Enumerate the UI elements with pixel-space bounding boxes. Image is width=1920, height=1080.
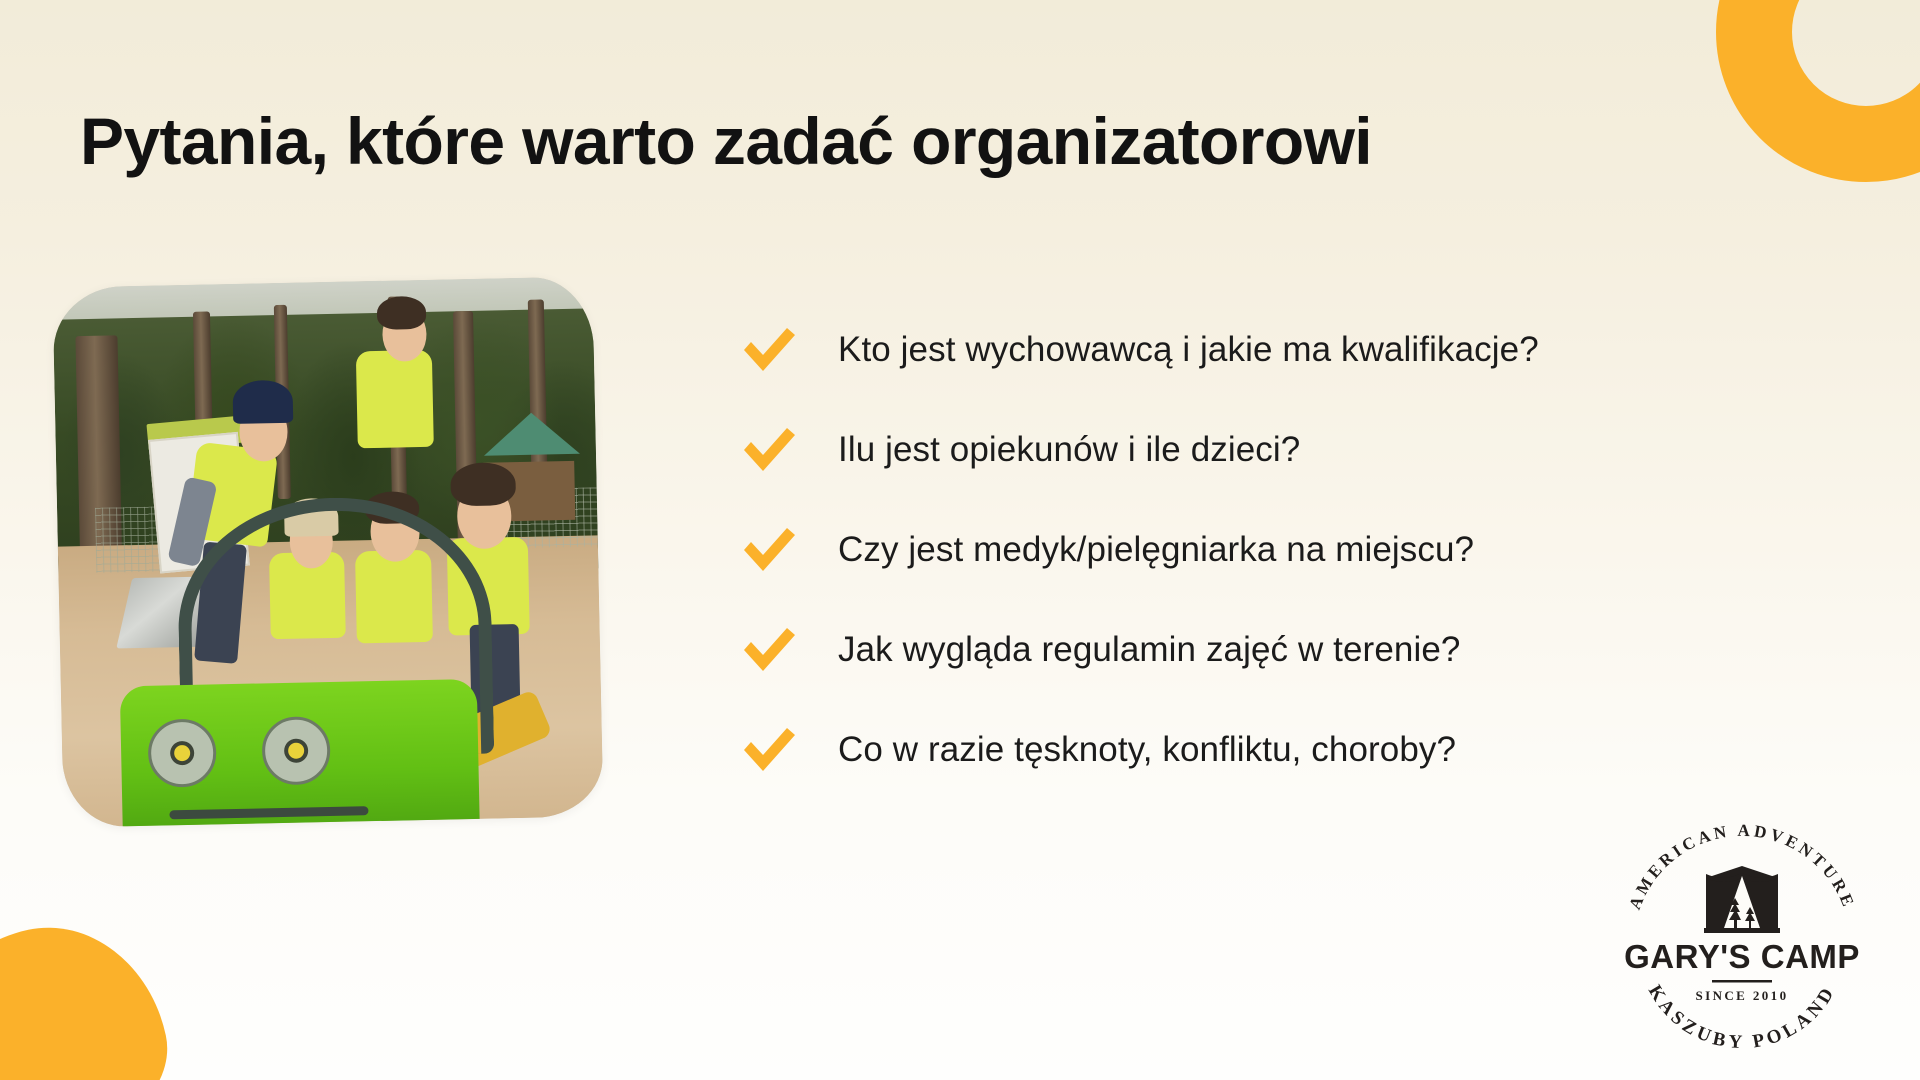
photo-child bbox=[356, 350, 434, 449]
logo-svg: AMERICAN ADVENTURE GARY'S CAMP bbox=[1608, 816, 1876, 1056]
list-item-label: Jak wygląda regulamin zajęć w terenie? bbox=[838, 630, 1460, 670]
check-icon bbox=[740, 521, 798, 579]
logo-since-text: SINCE 2010 bbox=[1696, 988, 1789, 1003]
list-item-label: Czy jest medyk/pielęgniarka na miejscu? bbox=[838, 530, 1474, 570]
photo-cabin-roof bbox=[483, 412, 580, 456]
bottom-left-blob-decoration bbox=[0, 906, 184, 1080]
photo-child-cap bbox=[233, 380, 293, 424]
logo-brand-name: GARY'S CAMP bbox=[1624, 938, 1860, 975]
list-item: Ilu jest opiekunów i ile dzieci? bbox=[740, 400, 1800, 500]
camp-photo bbox=[52, 276, 603, 827]
slide-root: Pytania, które warto zadać organizatorow… bbox=[0, 0, 1920, 1080]
check-icon bbox=[740, 721, 798, 779]
garys-camp-logo: AMERICAN ADVENTURE GARY'S CAMP bbox=[1608, 816, 1876, 1056]
list-item-label: Kto jest wychowawcą i jakie ma kwalifika… bbox=[838, 330, 1539, 370]
photo-child-hair bbox=[450, 462, 516, 507]
list-item-label: Ilu jest opiekunów i ile dzieci? bbox=[838, 430, 1300, 470]
photo-car-bar bbox=[169, 806, 369, 819]
tent-with-pines-icon bbox=[1704, 866, 1780, 933]
list-item-label: Co w razie tęsknoty, konfliktu, choroby? bbox=[838, 730, 1456, 770]
check-icon bbox=[740, 621, 798, 679]
photo-child-hair bbox=[377, 296, 426, 329]
check-icon bbox=[740, 421, 798, 479]
page-title: Pytania, które warto zadać organizatorow… bbox=[80, 106, 1720, 177]
top-right-arc-decoration bbox=[1716, 0, 1920, 182]
list-item: Czy jest medyk/pielęgniarka na miejscu? bbox=[740, 500, 1800, 600]
list-item: Kto jest wychowawcą i jakie ma kwalifika… bbox=[740, 300, 1800, 400]
list-item: Jak wygląda regulamin zajęć w terenie? bbox=[740, 600, 1800, 700]
questions-checklist: Kto jest wychowawcą i jakie ma kwalifika… bbox=[740, 300, 1800, 800]
check-icon bbox=[740, 321, 798, 379]
logo-divider bbox=[1712, 980, 1772, 983]
list-item: Co w razie tęsknoty, konfliktu, choroby? bbox=[740, 700, 1800, 800]
camp-photo-image bbox=[52, 276, 603, 827]
